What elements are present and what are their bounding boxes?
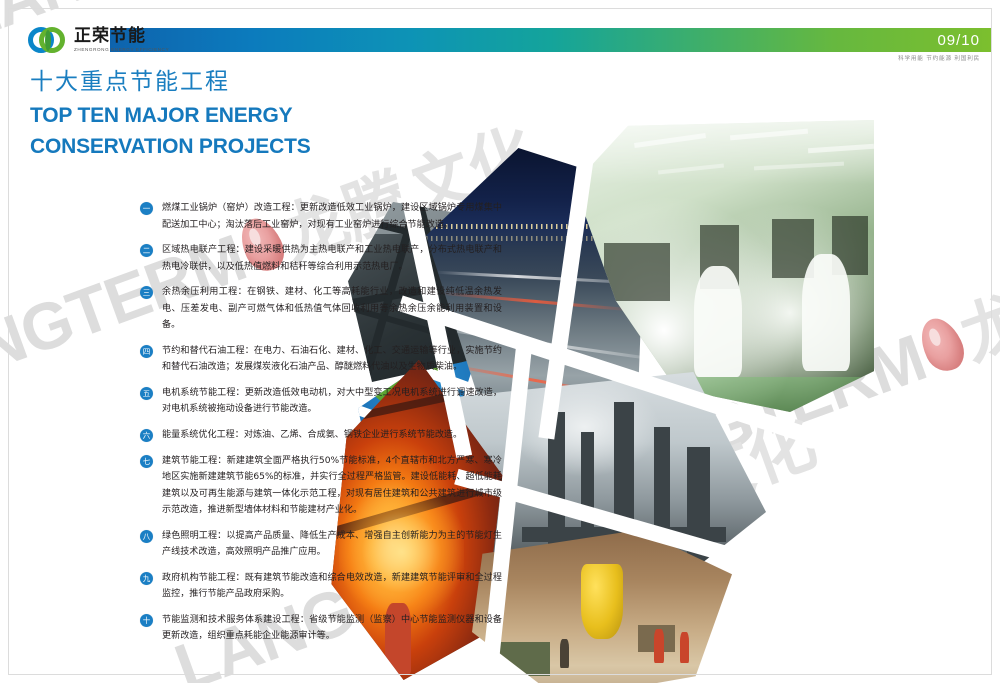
list-item: 六 能量系统优化工程：对炼油、乙烯、合成氨、钢铁企业进行系统节能改造。	[140, 427, 502, 444]
page-title-block: 十大重点节能工程 TOP TEN MAJOR ENERGY CONSERVATI…	[30, 68, 311, 159]
list-item-text: 节约和替代石油工程：在电力、石油石化、建材、化工、交通运输等行业，实施节约和替代…	[162, 343, 502, 376]
page-header: 09/10 科学用能 节约能源 利国利民 正荣节能 ZHENGRONG ENER…	[0, 0, 1000, 66]
logo-mark-icon	[28, 25, 62, 55]
list-item: 三 余热余压利用工程：在钢铁、建材、化工等高耗能行业，改造和建设纯低温余热发电、…	[140, 284, 502, 334]
list-item: 二 区域热电联产工程：建设采暖供热为主热电联产和工业热电联产，分布式热电联产和热…	[140, 242, 502, 275]
list-item-badge: 五	[140, 387, 153, 400]
project-list: 一 燃煤工业锅炉（窑炉）改造工程：更新改造低效工业锅炉，建设区域锅炉专用煤集中配…	[140, 200, 502, 654]
list-item-text: 建筑节能工程：新建建筑全面严格执行50%节能标准，4个直辖市和北方严寒、寒冷地区…	[162, 453, 502, 519]
logo-name-cn: 正荣节能	[74, 28, 169, 45]
page-number: 09/10	[937, 28, 980, 52]
ceiling-light	[658, 163, 724, 174]
header-gradient-bar	[110, 28, 992, 52]
list-item-text: 区域热电联产工程：建设采暖供热为主热电联产和工业热电联产，分布式热电联产和热电冷…	[162, 242, 502, 275]
list-item-text: 政府机构节能工程：既有建筑节能改造和综合电效改造，新建建筑节能评审和全过程监控，…	[162, 570, 502, 603]
logo-ring-green	[39, 27, 65, 53]
list-item: 七 建筑节能工程：新建建筑全面严格执行50%节能标准，4个直辖市和北方严寒、寒冷…	[140, 453, 502, 519]
list-item: 四 节约和替代石油工程：在电力、石油石化、建材、化工、交通运输等行业，实施节约和…	[140, 343, 502, 376]
logo-leaf-icon	[45, 30, 51, 51]
list-item-text: 绿色照明工程：以提高产品质量、降低生产成本、增强自主创新能力为主的节能灯生产线技…	[162, 528, 502, 561]
ceiling-light	[634, 133, 706, 148]
list-item-badge: 六	[140, 429, 153, 442]
list-item: 八 绿色照明工程：以提高产品质量、降低生产成本、增强自主创新能力为主的节能灯生产…	[140, 528, 502, 561]
worker-cleanroom-suit	[694, 266, 742, 377]
list-item-badge: 三	[140, 286, 153, 299]
list-item-badge: 一	[140, 202, 153, 215]
page-title-en-line1: TOP TEN MAJOR ENERGY	[30, 103, 311, 129]
list-item-text: 节能监测和技术服务体系建设工程：省级节能监测（监察）中心节能监测仪器和设备更新改…	[162, 612, 502, 645]
list-item-badge: 二	[140, 244, 153, 257]
worker-figure	[654, 629, 664, 663]
ceiling-light	[754, 161, 844, 170]
list-item-text: 电机系统节能工程：更新改造低效电动机，对大中型变工况电机系统进行调速改造，对电机…	[162, 385, 502, 418]
logo-name-en: ZHENGRONG ENERGY EFFICIENCY	[74, 48, 169, 53]
logo-text-block: 正荣节能 ZHENGRONG ENERGY EFFICIENCY	[74, 28, 169, 53]
list-item: 五 电机系统节能工程：更新改造低效电动机，对大中型变工况电机系统进行调速改造，对…	[140, 385, 502, 418]
list-item-badge: 九	[140, 572, 153, 585]
page-title-cn: 十大重点节能工程	[30, 68, 311, 98]
list-item-badge: 四	[140, 345, 153, 358]
bench-equipment	[604, 243, 670, 301]
list-item-badge: 七	[140, 455, 153, 468]
ceiling-light	[808, 144, 874, 154]
list-item-badge: 八	[140, 530, 153, 543]
list-item: 一 燃煤工业锅炉（窑炉）改造工程：更新改造低效工业锅炉，建设区域锅炉专用煤集中配…	[140, 200, 502, 233]
list-item-badge: 十	[140, 614, 153, 627]
worker-figure	[680, 632, 689, 663]
list-item: 九 政府机构节能工程：既有建筑节能改造和综合电效改造，新建建筑节能评审和全过程监…	[140, 570, 502, 603]
page-title-en-line2: CONSERVATION PROJECTS	[30, 134, 311, 160]
poster-page: LANGTERM龙腾文化 LANGTERM龙腾文化 LANGTERM龙腾文化 L…	[0, 0, 1000, 683]
company-logo[interactable]: 正荣节能 ZHENGRONG ENERGY EFFICIENCY	[28, 24, 169, 56]
worker-figure	[560, 639, 569, 668]
list-item-text: 余热余压利用工程：在钢铁、建材、化工等高耗能行业，改造和建设纯低温余热发电、压差…	[162, 284, 502, 334]
list-item: 十 节能监测和技术服务体系建设工程：省级节能监测（监察）中心节能监测仪器和设备更…	[140, 612, 502, 645]
ceiling-light	[730, 128, 808, 140]
yellow-storage-tank	[581, 564, 623, 639]
list-item-text: 能量系统优化工程：对炼油、乙烯、合成氨、钢铁企业进行系统节能改造。	[162, 427, 502, 444]
worker-cleanroom-suit	[802, 254, 850, 371]
header-slogan: 科学用能 节约能源 利国利民	[898, 54, 980, 62]
list-item-text: 燃煤工业锅炉（窑炉）改造工程：更新改造低效工业锅炉，建设区域锅炉专用煤集中配送加…	[162, 200, 502, 233]
